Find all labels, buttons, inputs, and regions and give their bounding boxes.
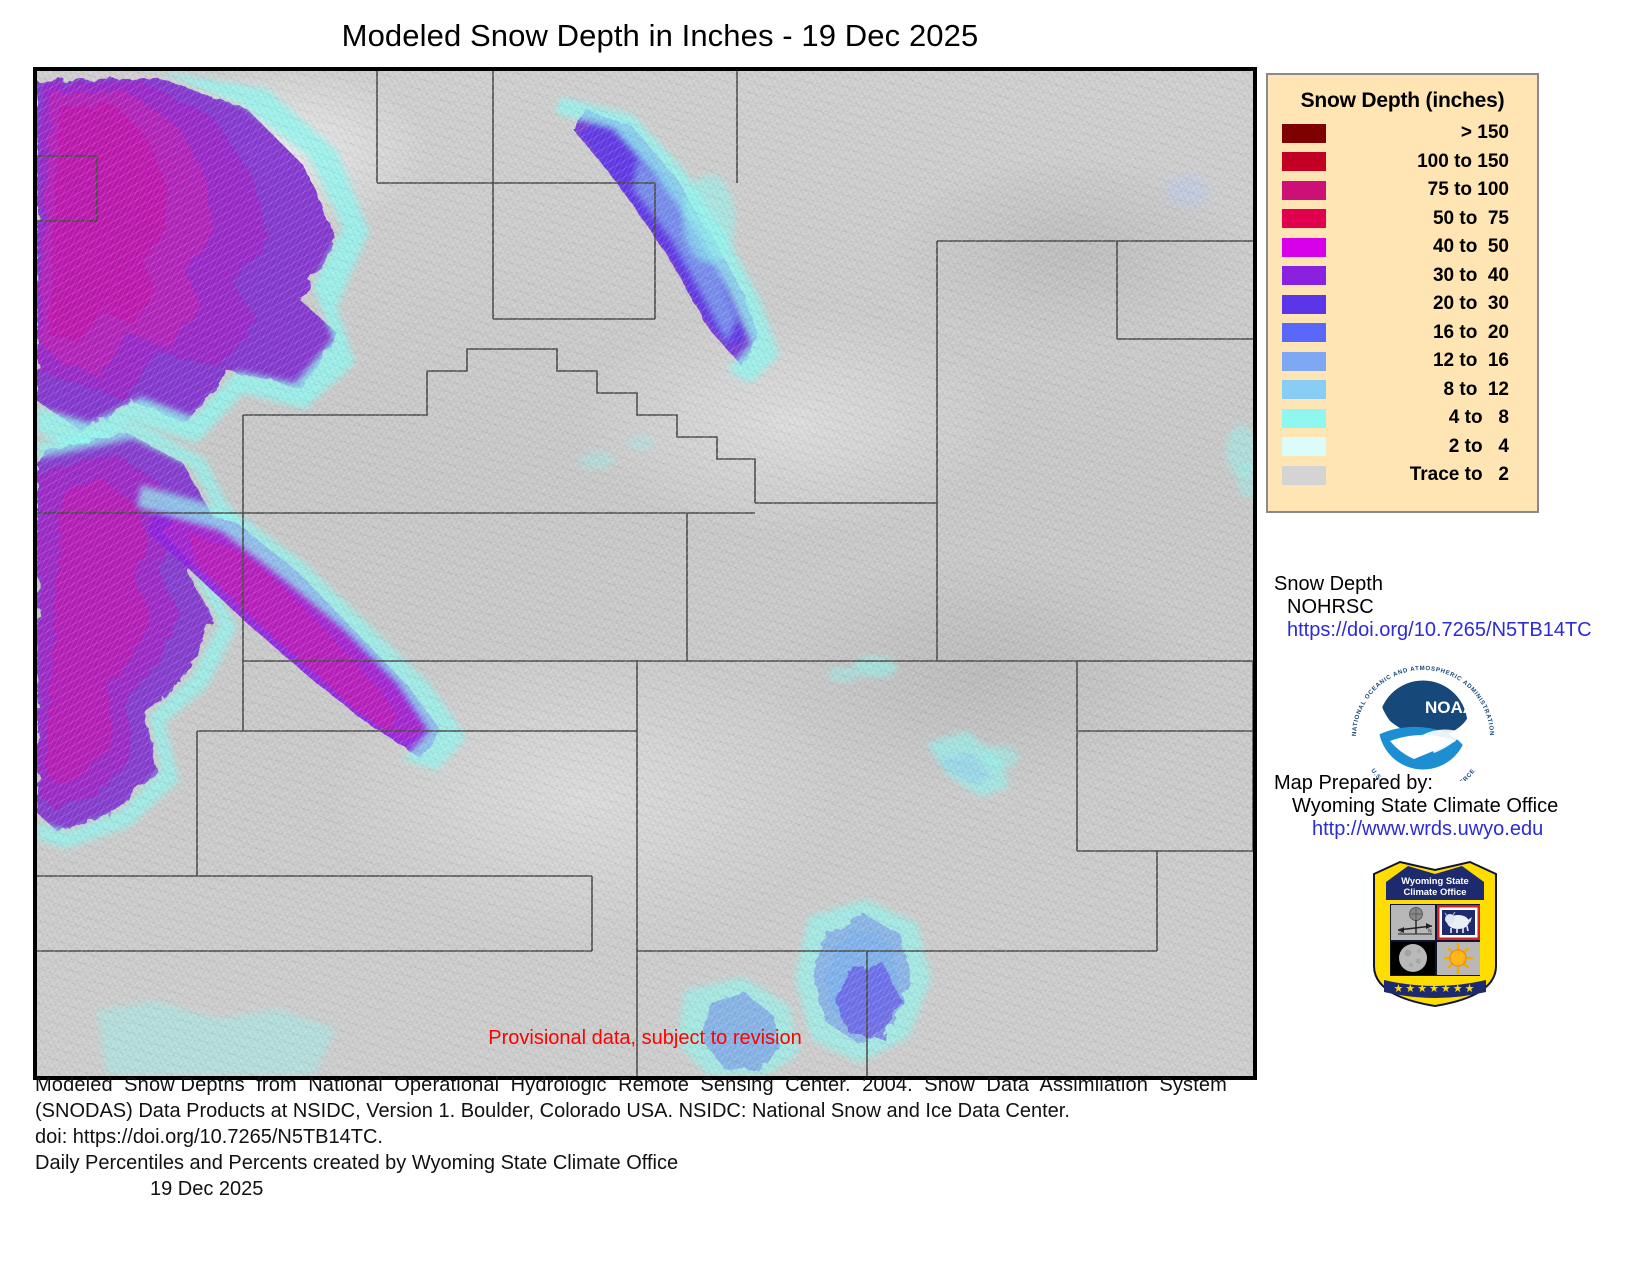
prepared-by-org: Wyoming State Climate Office	[1292, 795, 1650, 818]
legend-swatch	[1282, 152, 1326, 171]
legend-swatch	[1282, 380, 1326, 399]
legend-label: Trace to 2	[1326, 464, 1537, 486]
wsco-logo-line1: Wyoming State	[1401, 875, 1469, 886]
legend-swatch	[1282, 323, 1326, 342]
legend-label: 40 to 50	[1326, 236, 1537, 258]
noaa-wordmark: NOAA	[1425, 698, 1475, 717]
legend-swatch	[1282, 409, 1326, 428]
footer-line-3: doi: https://doi.org/10.7265/N5TB14TC.	[35, 1124, 1435, 1150]
map-frame[interactable]	[33, 67, 1257, 1080]
legend-row: 20 to 30	[1268, 290, 1537, 319]
svg-text:N: N	[1428, 929, 1432, 935]
legend-label: > 150	[1326, 122, 1537, 144]
legend-swatch	[1282, 352, 1326, 371]
snow-depth-map-page: Modeled Snow Depth in Inches - 19 Dec 20…	[0, 0, 1650, 1275]
legend-label: 50 to 75	[1326, 208, 1537, 230]
data-source-agency: NOHRSC	[1287, 596, 1650, 619]
page-title: Modeled Snow Depth in Inches - 19 Dec 20…	[0, 18, 1320, 54]
legend-row: 100 to 150	[1268, 148, 1537, 177]
legend-label: 12 to 16	[1326, 350, 1537, 372]
legend-label: 8 to 12	[1326, 379, 1537, 401]
legend-label: 100 to 150	[1326, 151, 1537, 173]
provisional-notice: Provisional data, subject to revision	[33, 1027, 1257, 1050]
legend-row: 2 to 4	[1268, 433, 1537, 462]
legend-row: > 150	[1268, 119, 1537, 148]
legend-label: 4 to 8	[1326, 407, 1537, 429]
legend-swatch	[1282, 437, 1326, 456]
legend-row: 75 to 100	[1268, 176, 1537, 205]
legend-row: 30 to 40	[1268, 262, 1537, 291]
prepared-by-label: Map Prepared by:	[1274, 772, 1650, 795]
data-source-title: Snow Depth	[1274, 573, 1650, 596]
footer-line-4: Daily Percentiles and Percents created b…	[35, 1150, 1435, 1176]
footer-citation: Modeled Snow Depths from National Operat…	[35, 1072, 1435, 1202]
legend-row: 40 to 50	[1268, 233, 1537, 262]
legend-swatch	[1282, 124, 1326, 143]
legend-swatch	[1282, 209, 1326, 228]
data-source-block: Snow Depth NOHRSC https://doi.org/10.726…	[1274, 573, 1650, 642]
legend-label: 20 to 30	[1326, 293, 1537, 315]
legend-row: Trace to 2	[1268, 461, 1537, 490]
map-prepared-by-block: Map Prepared by: Wyoming State Climate O…	[1274, 772, 1650, 841]
legend-row: 4 to 8	[1268, 404, 1537, 433]
wsco-logo-line2: Climate Office	[1403, 886, 1466, 897]
legend-row: 50 to 75	[1268, 205, 1537, 234]
prepared-by-url-link[interactable]: http://www.wrds.uwyo.edu	[1312, 818, 1650, 841]
legend-label: 2 to 4	[1326, 436, 1537, 458]
legend-label: 30 to 40	[1326, 265, 1537, 287]
legend-swatch	[1282, 266, 1326, 285]
legend-swatch	[1282, 295, 1326, 314]
moon-icon	[1399, 944, 1427, 972]
legend-panel: Snow Depth (inches) > 150 100 to 150 75 …	[1266, 73, 1539, 513]
footer-date: 19 Dec 2025	[150, 1176, 1435, 1202]
noaa-logo: NATIONAL OCEANIC AND ATMOSPHERIC ADMINIS…	[1338, 663, 1508, 781]
wyoming-state-climate-office-logo: Wyoming State Climate Office S N	[1362, 856, 1508, 1008]
legend-swatch	[1282, 181, 1326, 200]
hillshade-overlay-fine	[37, 71, 1253, 1076]
legend-title: Snow Depth (inches)	[1268, 89, 1537, 113]
map-canvas[interactable]	[37, 71, 1253, 1076]
legend-swatch	[1282, 238, 1326, 257]
legend-label: 75 to 100	[1326, 179, 1537, 201]
legend-row: 12 to 16	[1268, 347, 1537, 376]
footer-line-2: (SNODAS) Data Products at NSIDC, Version…	[35, 1098, 1435, 1124]
svg-text:★★★★★★★: ★★★★★★★	[1393, 983, 1476, 995]
legend-row: 8 to 12	[1268, 376, 1537, 405]
footer-line-1: Modeled Snow Depths from National Operat…	[35, 1072, 1435, 1098]
star-band: ★★★★★★★	[1393, 983, 1476, 995]
data-source-doi-link[interactable]: https://doi.org/10.7265/N5TB14TC	[1287, 619, 1650, 642]
legend-rows: > 150 100 to 150 75 to 100 50 to 75 40 t…	[1268, 119, 1537, 490]
legend-row: 16 to 20	[1268, 319, 1537, 348]
legend-swatch	[1282, 466, 1326, 485]
legend-label: 16 to 20	[1326, 322, 1537, 344]
